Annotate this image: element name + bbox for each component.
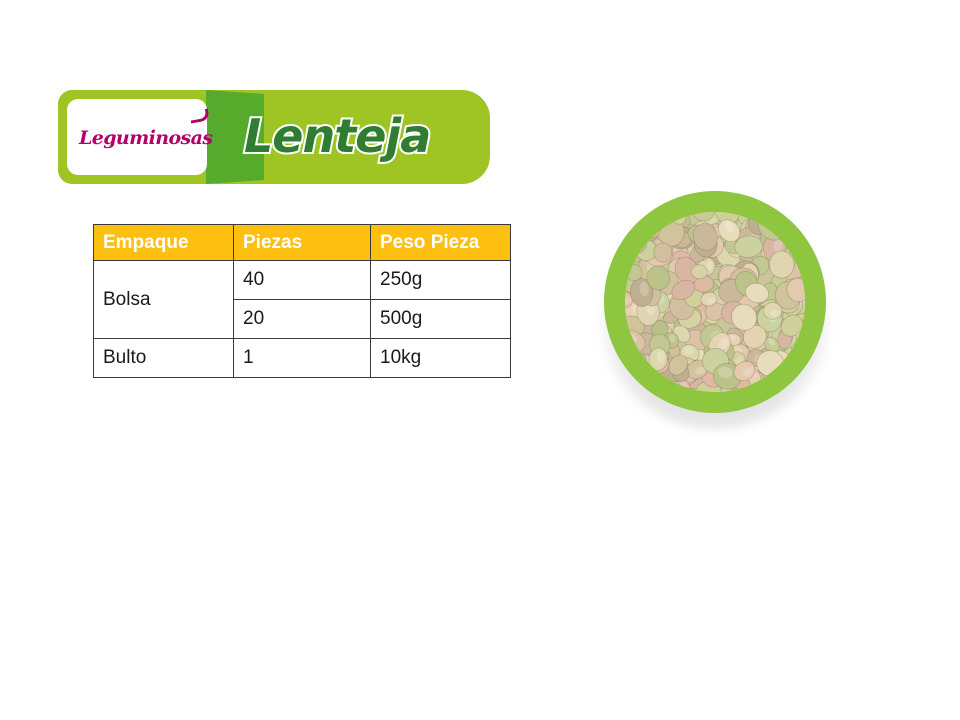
column-header-peso-pieza: Peso Pieza (371, 225, 511, 261)
cell-empaque: Bulto (94, 339, 234, 378)
cell-empaque: Bolsa (94, 261, 234, 339)
cell-piezas: 20 (234, 300, 371, 339)
cell-piezas: 40 (234, 261, 371, 300)
leguminosas-logotype: Leguminosas (79, 123, 201, 153)
lentils-image (625, 212, 805, 392)
cell-peso-pieza: 250g (371, 261, 511, 300)
brand-logo-plate: Leguminosas (67, 99, 207, 175)
table-row: Bulto 1 10kg (94, 339, 511, 378)
lentil-photo (604, 191, 826, 413)
lenteja-wordmark: Lenteja (244, 108, 430, 164)
cell-peso-pieza: 10kg (371, 339, 511, 378)
table-row: Bolsa 40 250g (94, 261, 511, 300)
column-header-empaque: Empaque (94, 225, 234, 261)
column-header-piezas: Piezas (234, 225, 371, 261)
table-header-row: Empaque Piezas Peso Pieza (94, 225, 511, 261)
packaging-table: Empaque Piezas Peso Pieza Bolsa 40 250g … (93, 224, 511, 378)
cell-piezas: 1 (234, 339, 371, 378)
cell-peso-pieza: 500g (371, 300, 511, 339)
logotype-swash-icon (189, 108, 210, 123)
